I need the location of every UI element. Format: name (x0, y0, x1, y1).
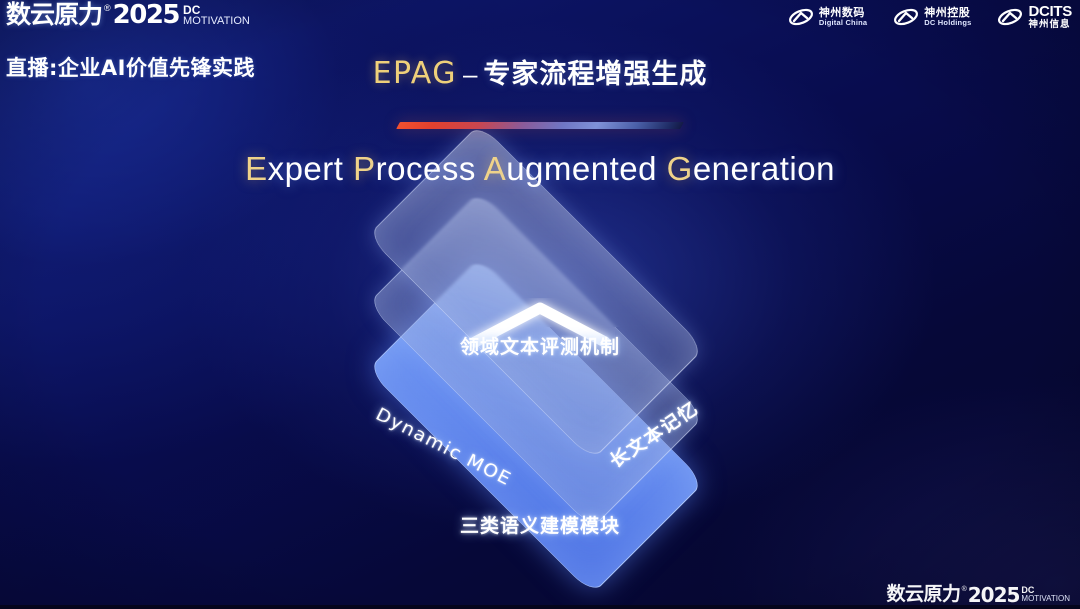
headline-chinese: 专家流程增强生成 (483, 59, 707, 90)
brand-dc-motivation-block: DC MOTIVATION (183, 4, 250, 27)
watermark-year: 2025 (968, 585, 1020, 605)
watermark-motivation-text: MOTIVATION (1021, 595, 1070, 603)
stack-layer-middle-label-right: 长文本记忆 (604, 395, 703, 474)
watermark-dc-motivation-block: DC MOTIVATION (1021, 586, 1070, 603)
gradient-divider (396, 122, 684, 129)
stack-layer-middle-face (367, 191, 704, 528)
subtitle-seg-1: xpert (268, 150, 354, 187)
partner-logo-dcits: DCITS 神州信息 (997, 4, 1072, 30)
chevron-up-icon (465, 298, 615, 355)
partner-logo-group: 神州数码 Digital China 神州控股 DC Holdings (788, 4, 1072, 30)
swirl-logo-icon (788, 5, 814, 29)
stack-layer-top-label: 领域文本评测机制 (460, 332, 620, 359)
broadcast-title: 直播:企业AI价值先锋实践 (6, 52, 255, 82)
subtitle-seg-2: P (353, 150, 376, 187)
headline-acronym: EPAG (373, 56, 457, 91)
stack-layer-middle-label-left: Dynamic MOE (372, 404, 515, 490)
partner-logo-dc-holdings: 神州控股 DC Holdings (893, 5, 971, 29)
partner-label-block: 神州控股 DC Holdings (924, 7, 971, 26)
stack-layer-bottom-face (367, 257, 704, 594)
brand-watermark-bottom-right: 数云原力 ® 2025 DC MOTIVATION (887, 585, 1070, 605)
subtitle-seg-0: E (245, 150, 268, 187)
subtitle-seg-5: ugmented (506, 150, 666, 187)
watermark-registered-mark: ® (962, 586, 967, 593)
subtitle-seg-6: G (667, 150, 693, 187)
subtitle-seg-3: rocess (376, 150, 484, 187)
slide-canvas: 数云原力 ® 2025 DC MOTIVATION 直播:企业AI价值先锋实践 … (0, 0, 1080, 609)
swirl-logo-icon (997, 5, 1023, 29)
partner-logo-digital-china: 神州数码 Digital China (788, 5, 867, 29)
subtitle-seg-4: A (484, 150, 507, 187)
partner-name-en: DCITS (1028, 4, 1072, 20)
watermark-chinese: 数云原力 (887, 585, 961, 604)
partner-name-en: Digital China (819, 19, 867, 27)
brand-logo-top-left: 数云原力 ® 2025 DC MOTIVATION (6, 2, 250, 28)
partner-name-cn: 神州数码 (819, 7, 867, 19)
bottom-letterbox-band (0, 605, 1080, 609)
partner-label-block: 神州数码 Digital China (819, 7, 867, 26)
brand-registered-mark: ® (104, 4, 111, 13)
stack-layer-middle (367, 191, 704, 528)
subtitle-english: Expert Process Augmented Generation (0, 150, 1080, 188)
brand-logo-year: 2025 (113, 2, 179, 28)
brand-motivation-text: MOTIVATION (183, 16, 250, 27)
partner-name-en: DC Holdings (924, 19, 971, 27)
swirl-logo-icon (893, 5, 919, 29)
partner-name-cn: 神州控股 (924, 7, 971, 19)
subtitle-seg-7: eneration (693, 150, 835, 187)
brand-logo-chinese: 数云原力 (6, 2, 102, 27)
partner-label-block: DCITS 神州信息 (1028, 4, 1072, 30)
stack-layer-bottom (367, 257, 704, 594)
headline-dash: – (463, 59, 477, 89)
partner-name-cn: 神州信息 (1028, 20, 1072, 30)
layered-stack-diagram: 领域文本评测机制 Dynamic MOE 长文本记忆 三类语义建模模块 (0, 0, 1080, 609)
stack-layer-bottom-label: 三类语义建模模块 (460, 511, 620, 538)
